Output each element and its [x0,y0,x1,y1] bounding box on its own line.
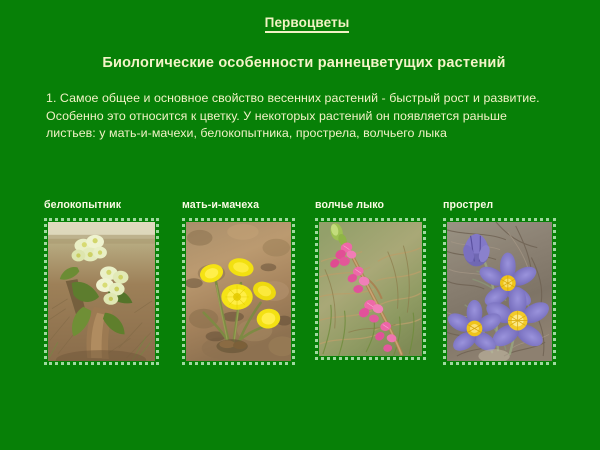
photo-caption: мать-и-мачеха [182,199,295,211]
photo-frame [182,218,295,365]
photo-frame [44,218,159,365]
slide-subtitle-container: Биологические особенности раннецветущих … [0,54,600,72]
coltsfoot-photo [186,222,291,361]
photo-cell-coltsfoot: мать-и-мачеха [182,199,295,365]
photo-caption: волчье лыко [315,199,426,211]
photo-gallery: белокопытник [0,199,600,379]
photo-cell-daphne: волчье лыко [315,199,426,360]
photo-frame [443,218,556,365]
photo-cell-pasqueflower: прострел [443,199,556,365]
photo-cell-butterbur: белокопытник [44,199,159,365]
daphne-photo [319,222,422,356]
butterbur-photo [48,222,155,361]
slide-canvas: Первоцветы Биологические особенности ран… [0,0,600,450]
slide-body-text: 1. Самое общее и основное свойство весен… [46,90,558,143]
photo-caption: прострел [443,199,556,211]
photo-caption: белокопытник [44,199,159,211]
slide-subtitle: Биологические особенности раннецветущих … [102,55,505,71]
pasqueflower-photo [447,222,552,361]
photo-frame [315,218,426,360]
page-title: Первоцветы [265,15,350,33]
slide-title-container: Первоцветы [0,14,600,33]
